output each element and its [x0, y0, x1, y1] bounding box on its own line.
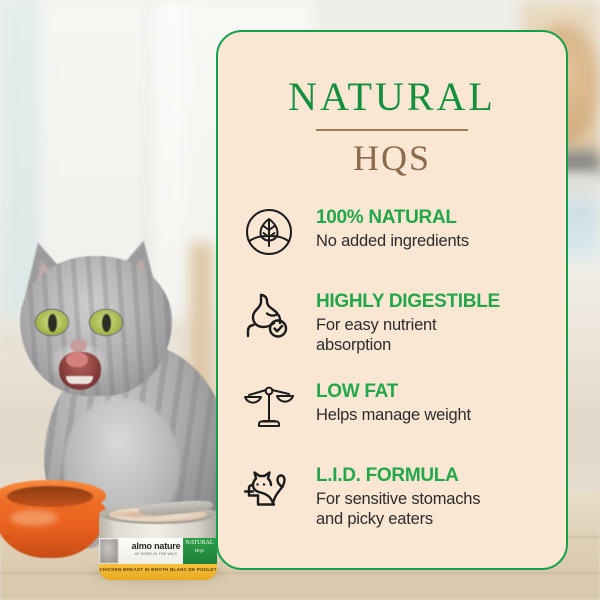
feature-description: Helps manage weight: [316, 405, 471, 425]
floor-plank-line-2: [0, 572, 600, 574]
benefits-card: NATURAL HQS 100% NATURAL No: [216, 30, 568, 570]
feature-text-digestible: HIGHLY DIGESTIBLE For easy nutrient abso…: [316, 287, 500, 355]
balance-scale-icon: [240, 377, 298, 435]
orange-food-bowl: [0, 480, 106, 562]
leaf-circle-icon: [240, 203, 298, 261]
cat-nose: [70, 340, 87, 352]
can-badge-text: NATURAL HQS: [183, 540, 216, 554]
can-badge-subtitle: HQS: [183, 547, 216, 554]
feature-text-low-fat: LOW FAT Helps manage weight: [316, 377, 471, 425]
stomach-check-icon: [240, 287, 298, 345]
sitting-cat-icon: [240, 461, 298, 519]
feature-title: LOW FAT: [316, 380, 471, 403]
feature-title: HIGHLY DIGESTIBLE: [316, 290, 500, 313]
can-flavour-text: CHICKEN BREAST IN BROTH BLANC DE POULET: [99, 567, 217, 572]
feature-title: L.I.D. FORMULA: [316, 464, 480, 487]
card-header: NATURAL HQS: [218, 58, 566, 179]
feature-text-natural: 100% NATURAL No added ingredients: [316, 203, 469, 251]
feature-list: 100% NATURAL No added ingredients: [218, 203, 566, 529]
cat-pupil-right: [102, 314, 111, 332]
can-label-cat-photo: [100, 539, 118, 563]
page-subtitle: HQS: [238, 137, 546, 179]
feature-item-natural: 100% NATURAL No added ingredients: [240, 203, 546, 265]
infographic-stage: almo nature AT HOME IN THE WILD NATURAL …: [0, 0, 600, 600]
can-brand-name: almo nature: [119, 541, 193, 551]
page-title: NATURAL: [238, 74, 546, 120]
cat-tongue: [66, 352, 88, 367]
cat-pupil-left: [48, 314, 57, 332]
cat-teeth: [66, 376, 93, 384]
bowl-interior: [7, 486, 93, 507]
feature-title: 100% NATURAL: [316, 206, 469, 229]
bowl-highlight: [10, 510, 58, 526]
product-can: almo nature AT HOME IN THE WILD NATURAL …: [99, 500, 217, 582]
feature-item-low-fat: LOW FAT Helps manage weight: [240, 377, 546, 439]
feature-item-digestible: HIGHLY DIGESTIBLE For easy nutrient abso…: [240, 287, 546, 355]
feature-item-lid-formula: L.I.D. FORMULA For sensitive stomachs an…: [240, 461, 546, 529]
can-badge-title: NATURAL: [186, 540, 214, 546]
title-divider: [316, 129, 468, 131]
feature-text-lid-formula: L.I.D. FORMULA For sensitive stomachs an…: [316, 461, 480, 529]
can-brand-tagline: AT HOME IN THE WILD: [119, 552, 193, 556]
feature-description: For sensitive stomachs and picky eaters: [316, 489, 480, 529]
feature-description: No added ingredients: [316, 231, 469, 251]
feature-description: For easy nutrient absorption: [316, 315, 500, 355]
